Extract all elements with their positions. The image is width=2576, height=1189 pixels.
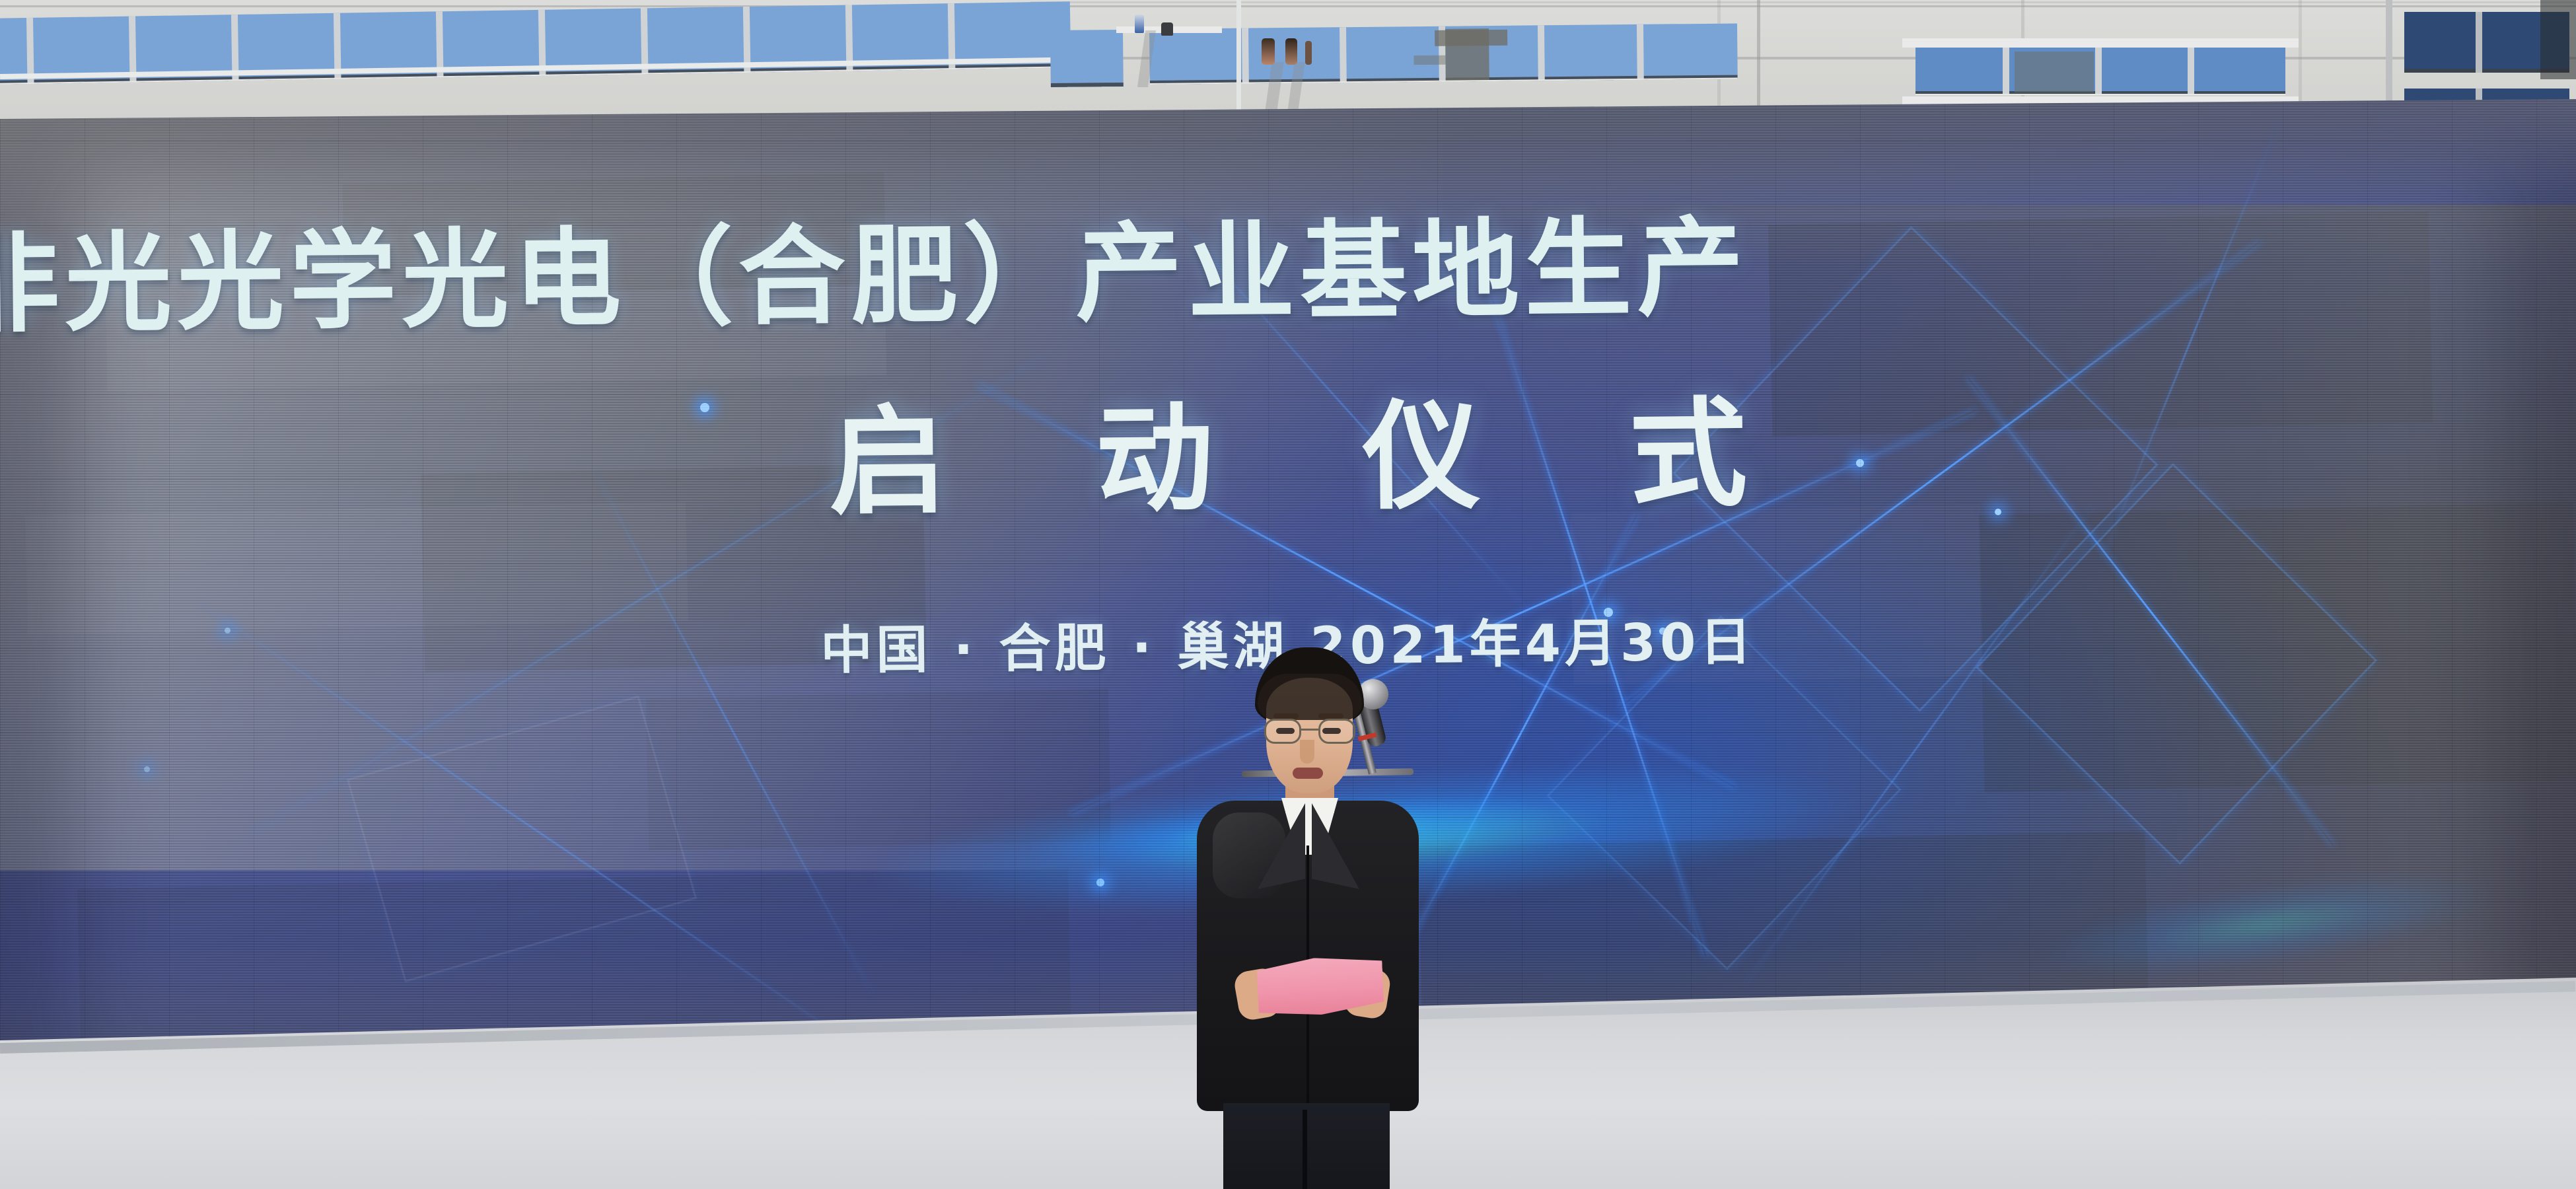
speaker-person [1189, 647, 1427, 1189]
speaker-nose [1300, 740, 1314, 764]
speaker-mouth [1293, 768, 1323, 779]
cup-icon [1161, 22, 1173, 36]
speaker-hair-front [1258, 674, 1362, 720]
trouser-gap [1303, 1110, 1307, 1189]
led-headline: 非光光学光电（合肥）产业基地生产 [0, 207, 2576, 340]
photo-scene: 非光光学光电（合肥）产业基地生产 启 动 仪 式 中国 · 合肥 · 巢湖 20… [0, 0, 2576, 1189]
building-window-stub [1050, 30, 1124, 87]
bottle-icon [1285, 38, 1297, 65]
led-subtitle: 启 动 仪 式 [0, 387, 2576, 529]
bottle-icon [1262, 38, 1275, 65]
bottle-icon [1305, 41, 1312, 65]
bottle-icon [1135, 15, 1144, 33]
jacket-highlight [1213, 812, 1285, 898]
building-window-ribbon-right [1915, 48, 2285, 95]
